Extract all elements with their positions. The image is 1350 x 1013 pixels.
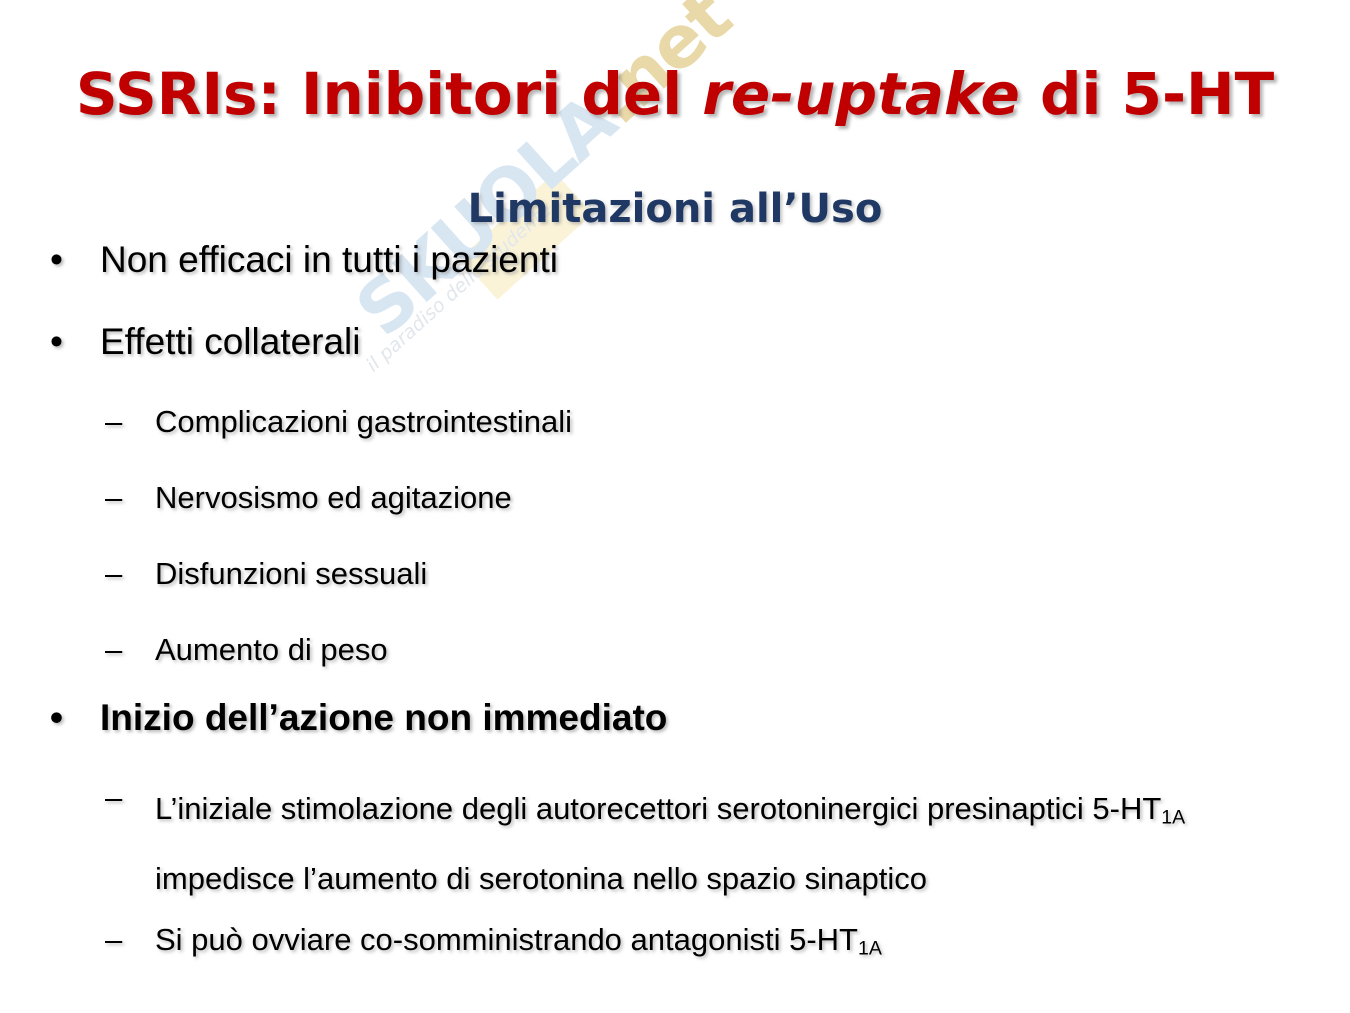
sub-list-item-label: Complicazioni gastrointestinali [155,404,572,439]
page-subtitle: Limitazioni all’Uso [0,185,1350,233]
dash-icon: – [105,630,122,670]
slide: SSRIs: Inibitori del re-uptake di 5-HT L… [0,0,1350,1013]
sub-list-item-label: Si può ovviare co-somministrando antagon… [155,922,858,957]
dash-icon: – [105,554,122,594]
title-italic-term: re-uptake [702,60,1020,128]
page-title: SSRIs: Inibitori del re-uptake di 5-HT [0,61,1350,127]
bullet-icon: • [50,238,63,282]
subscript-1a: 1A [858,938,882,960]
dash-icon: – [105,402,122,442]
title-part-2: di 5-HT [1020,60,1274,128]
list-item-label: Non efficaci in tutti i pazienti [100,239,558,280]
sub-list-item: –L’iniziale stimolazione degli autorecet… [0,778,1350,910]
sub-list-item-label-cont: impedisce l’aumento di serotonina nello … [155,861,927,896]
bullet-icon: • [50,696,63,740]
bullet-icon: • [50,320,63,364]
sub-list-item-label: Disfunzioni sessuali [155,556,427,591]
bullet-list: • Non efficaci in tutti i pazienti • Eff… [0,238,1350,1005]
dash-icon: – [105,920,122,960]
sub-list-item-label: Aumento di peso [155,632,388,667]
sub-list-item-label: L’iniziale stimolazione degli autorecett… [155,791,1161,826]
sub-list-item: – Nervosismo ed agitazione [0,478,1350,518]
dash-icon: – [105,778,122,818]
sub-list-item: – Aumento di peso [0,630,1350,670]
list-item: • Non efficaci in tutti i pazienti [0,238,1350,282]
list-item: • Effetti collaterali [0,320,1350,364]
sub-list-item: –Si può ovviare co-somministrando antago… [0,920,1350,968]
list-item: • Inizio dell’azione non immediato [0,696,1350,740]
list-item-label: Inizio dell’azione non immediato [100,697,667,738]
sub-list-item: – Complicazioni gastrointestinali [0,402,1350,442]
sub-list-item-label: Nervosismo ed agitazione [155,480,512,515]
list-item-label: Effetti collaterali [100,321,361,362]
subscript-1a: 1A [1161,806,1185,828]
sub-list-item: – Disfunzioni sessuali [0,554,1350,594]
dash-icon: – [105,478,122,518]
title-part-1: SSRIs: Inibitori del [76,60,702,128]
